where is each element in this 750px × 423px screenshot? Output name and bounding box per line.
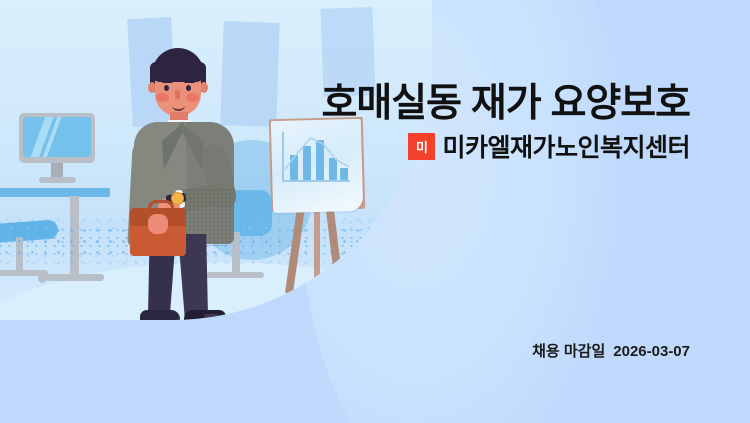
desk-surface [0,188,110,197]
organization-line: 미 미카엘재가노인복지센터 [408,128,690,164]
page-title: 호매실동 재가 요양보호 [322,72,690,128]
eye-right [186,85,191,91]
office-chair-left-wheel [38,274,47,283]
hand-holding-briefcase [148,214,168,234]
org-badge-icon: 미 [408,133,435,160]
shoe-left [140,310,180,320]
deadline-label: 채용 마감일 [532,343,605,360]
monitor-stand-base [39,177,76,183]
eye-left [164,85,169,91]
deadline-date: 2026-03-07 [613,343,690,360]
organization-name: 미카엘재가노인복지센터 [442,128,690,164]
desk-foot [46,274,104,281]
banner-content: 호매실동 재가 요양보호 미 미카엘재가노인복지센터 채용 마감일2026-03… [270,0,750,423]
monitor-screen [23,117,91,157]
recruitment-banner: 호매실동 재가 요양보호 미 미카엘재가노인복지센터 채용 마감일2026-03… [0,0,750,423]
businessman-figure [118,48,250,320]
deadline-info: 채용 마감일2026-03-07 [532,340,690,361]
